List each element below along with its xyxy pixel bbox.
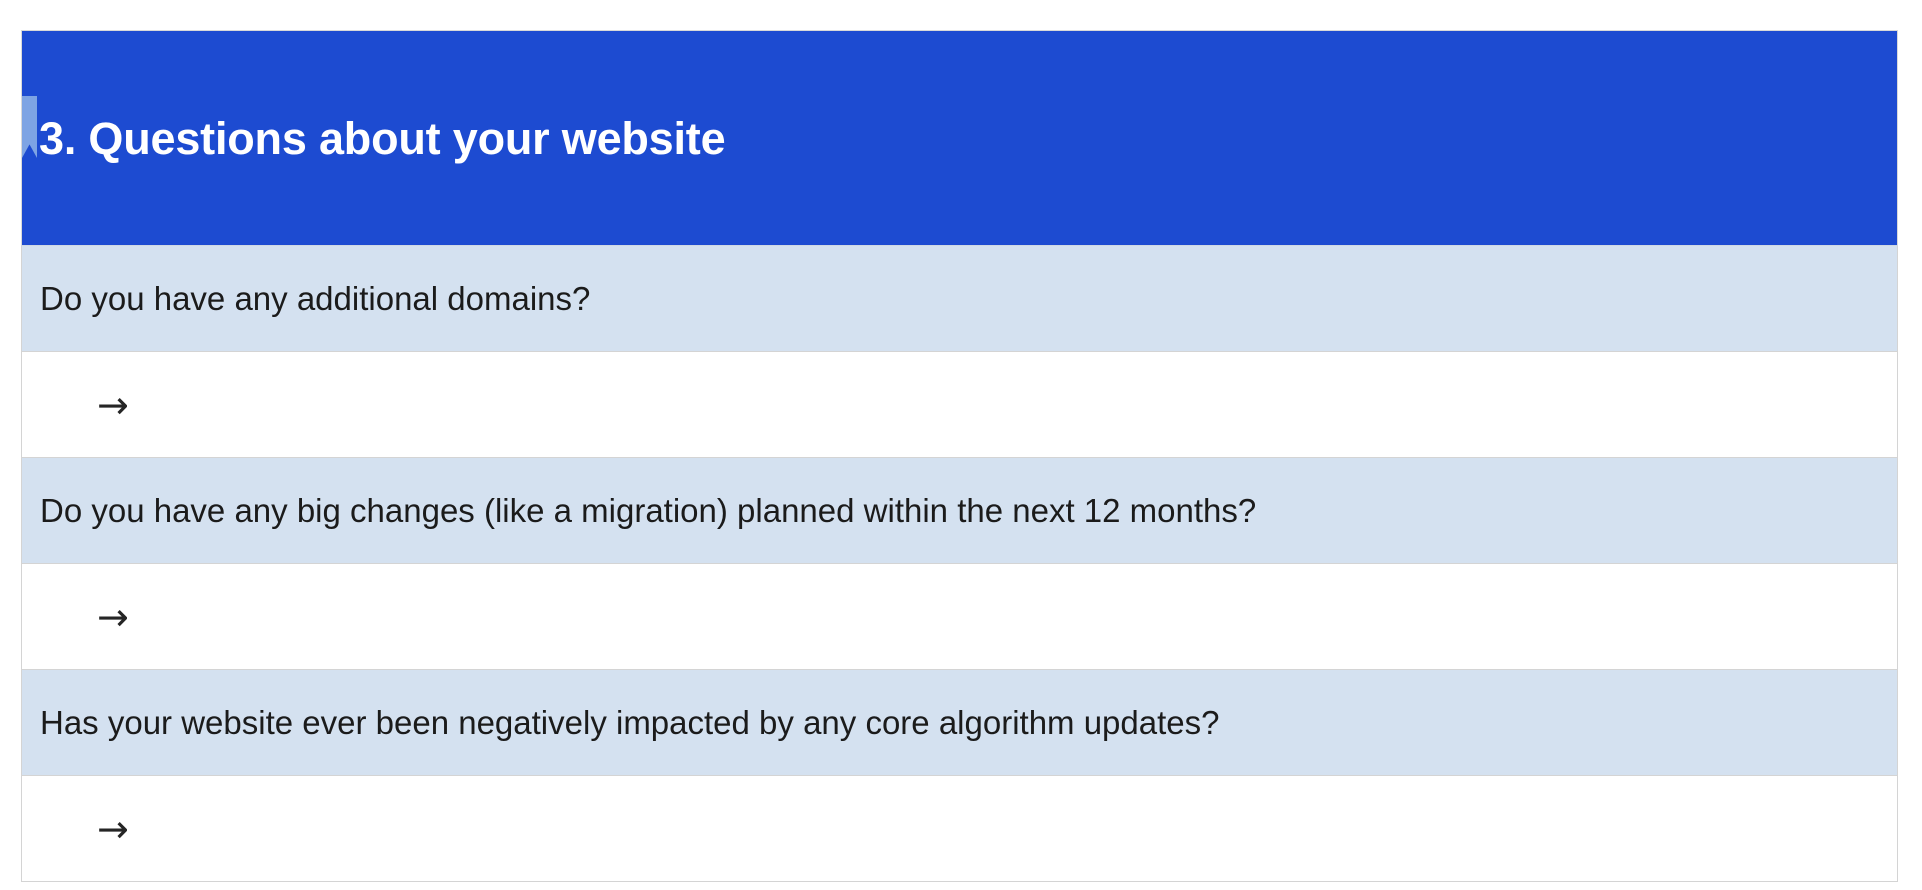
section-header-cell: 3. Questions about your website (22, 31, 1898, 246)
question-row: Has your website ever been negatively im… (22, 670, 1898, 776)
answer-row[interactable]: → (22, 776, 1898, 882)
answer-cell[interactable]: → (22, 352, 1898, 458)
answer-cell[interactable]: → (22, 776, 1898, 882)
form-sheet: 3. Questions about your website Do you h… (0, 0, 1922, 890)
questions-table: 3. Questions about your website Do you h… (21, 30, 1898, 882)
arrow-right-icon: → (97, 598, 129, 636)
section-header-row: 3. Questions about your website (22, 31, 1898, 246)
question-text: Do you have any additional domains? (22, 246, 1898, 352)
question-text: Has your website ever been negatively im… (22, 670, 1898, 776)
bookmark-icon (22, 96, 37, 158)
question-row: Do you have any additional domains? (22, 246, 1898, 352)
answer-row[interactable]: → (22, 564, 1898, 670)
answer-row[interactable]: → (22, 352, 1898, 458)
arrow-right-icon: → (97, 386, 129, 424)
arrow-right-icon: → (97, 810, 129, 848)
section-title: 3. Questions about your website (39, 116, 725, 161)
question-text: Do you have any big changes (like a migr… (22, 458, 1898, 564)
answer-cell[interactable]: → (22, 564, 1898, 670)
question-row: Do you have any big changes (like a migr… (22, 458, 1898, 564)
